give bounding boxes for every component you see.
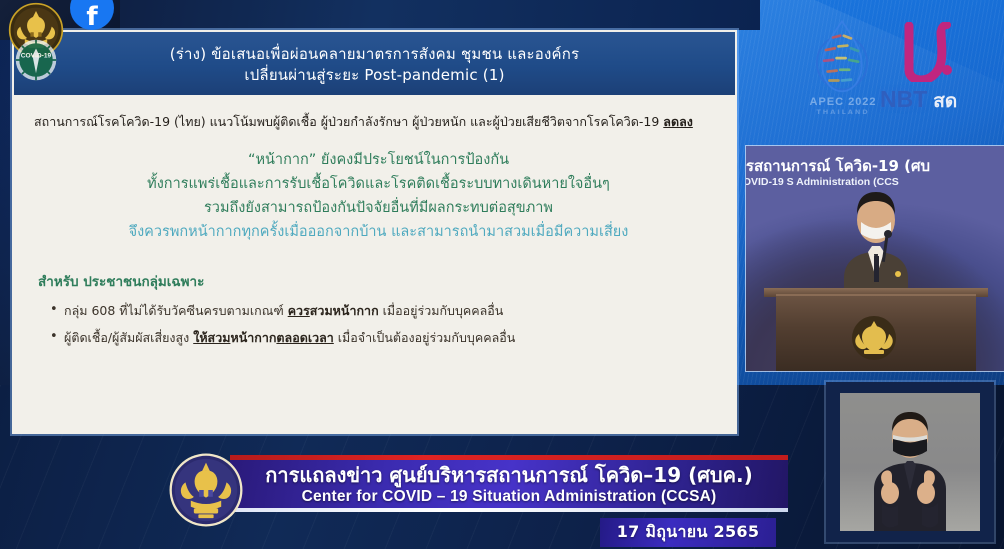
presentation-slide: (ร่าง) ข้อเสนอเพื่อผ่อนคลายมาตรการสังคม … [12,30,737,434]
bullet-2-text-b: เมื่อจำเป็นต้องอยู่ร่วมกับบุคคลอื่น [334,330,516,345]
facebook-glyph: f [86,4,97,30]
date-chip: 17 มิถุนายน 2565 [600,518,776,547]
covid19-badge-icon: COVID-19 [14,38,58,82]
speaker-video-inset: บริหารสถานการณ์ โควิด-19 (ศบ ter for COV… [746,146,1004,371]
broadcast-date: 17 มิถุนายน 2565 [617,520,760,545]
slide-body: สถานการณ์โรคโควิด-19 (ไทย) แนวโน้มพบผู้ต… [12,95,737,434]
lower-third-white-bar [230,508,788,512]
slide-lead-line: สถานการณ์โรคโควิด-19 (ไทย) แนวโน้มพบผู้ต… [34,113,723,130]
slide-header: (ร่าง) ข้อเสนอเพื่อผ่อนคลายมาตรการสังคม … [14,32,735,95]
sign-language-inset [826,382,994,542]
bullet-2-bold: หน้ากาก [230,330,276,345]
lower-third-english-title: Center for COVID – 19 Situation Administ… [302,487,717,506]
lower-third-banner: การแถลงข่าว ศูนย์บริหารสถานการณ์ โควิด–1… [160,455,788,517]
svg-text:COVID-19: COVID-19 [21,52,52,59]
ccsa-garuda-seal-icon [168,452,244,528]
slide-lead-text: สถานการณ์โรคโควิด-19 (ไทย) แนวโน้มพบผู้ต… [34,114,663,129]
bullet-2-text-a: ผู้ติดเชื้อ/ผู้สัมผัสเสี่ยงสูง [64,330,193,345]
podium-garuda-seal-icon [850,314,898,362]
slide-lead-underlined: ลดลง [663,114,693,129]
nbt-logo-icon [897,22,959,82]
nbt-wordmark-row: NBT สด [880,86,957,116]
bullet-1-bold: สวมหน้ากาก [310,303,379,318]
bullet-1-text-b: เมื่ออยู่ร่วมกับบุคคลอื่น [379,303,504,318]
lower-third-thai-title: การแถลงข่าว ศูนย์บริหารสถานการณ์ โควิด–1… [265,463,752,487]
bullet-2-underline-2: ตลอดเวลา [276,330,333,345]
green-line-1: “หน้ากาก” ยังคงมีประโยชน์ในการป้องกัน [34,148,723,172]
bullet-1-underline: ควร [288,303,310,318]
green-line-4: จึงควรพกหน้ากากทุกครั้งเมื่อออกจากบ้าน แ… [34,220,723,244]
sign-language-frame [840,393,980,531]
sign-language-interpreter-figure [866,407,954,531]
green-line-2: ทั้งการแพร่เชื้อและการรับเชื้อโควิดและโร… [34,172,723,196]
broadcast-screen: f COVID-19 [0,0,1004,549]
slide-title-line-1: (ร่าง) ข้อเสนอเพื่อผ่อนคลายมาตรการสังคม … [170,44,580,65]
slide-title-line-2: เปลี่ยนผ่านสู่ระยะ Post-pandemic (1) [244,65,504,86]
list-item: ผู้ติดเชื้อ/ผู้สัมผัสเสี่ยงสูง ให้สวมหน้… [50,329,723,347]
slide-bullet-list: กลุ่ม 608 ที่ไม่ได้รับวัคซีนครบตามเกณฑ์ … [50,302,723,347]
lower-third-plate: การแถลงข่าว ศูนย์บริหารสถานการณ์ โควิด–1… [230,460,788,508]
apec-2022-logo-icon [806,16,878,102]
bullet-1-text-a: กลุ่ม 608 ที่ไม่ได้รับวัคซีนครบตามเกณฑ์ [64,303,288,318]
bullet-2-underline: ให้สวม [193,330,230,345]
list-item: กลุ่ม 608 ที่ไม่ได้รับวัคซีนครบตามเกณฑ์ … [50,302,723,320]
slide-green-block: “หน้ากาก” ยังคงมีประโยชน์ในการป้องกัน ทั… [34,148,723,244]
green-line-3: รวมถึงยังสามารถป้องกันปัจจัยอื่นที่มีผลก… [34,196,723,220]
slide-special-heading: สำหรับ ประชาชนกลุ่มเฉพาะ [38,270,723,292]
nbt-wordmark: NBT [880,86,927,113]
background-top-strip [60,0,760,30]
live-badge: สด [933,86,957,116]
speaker-backdrop-thai-text: บริหารสถานการณ์ โควิด-19 (ศบ [746,154,1004,178]
